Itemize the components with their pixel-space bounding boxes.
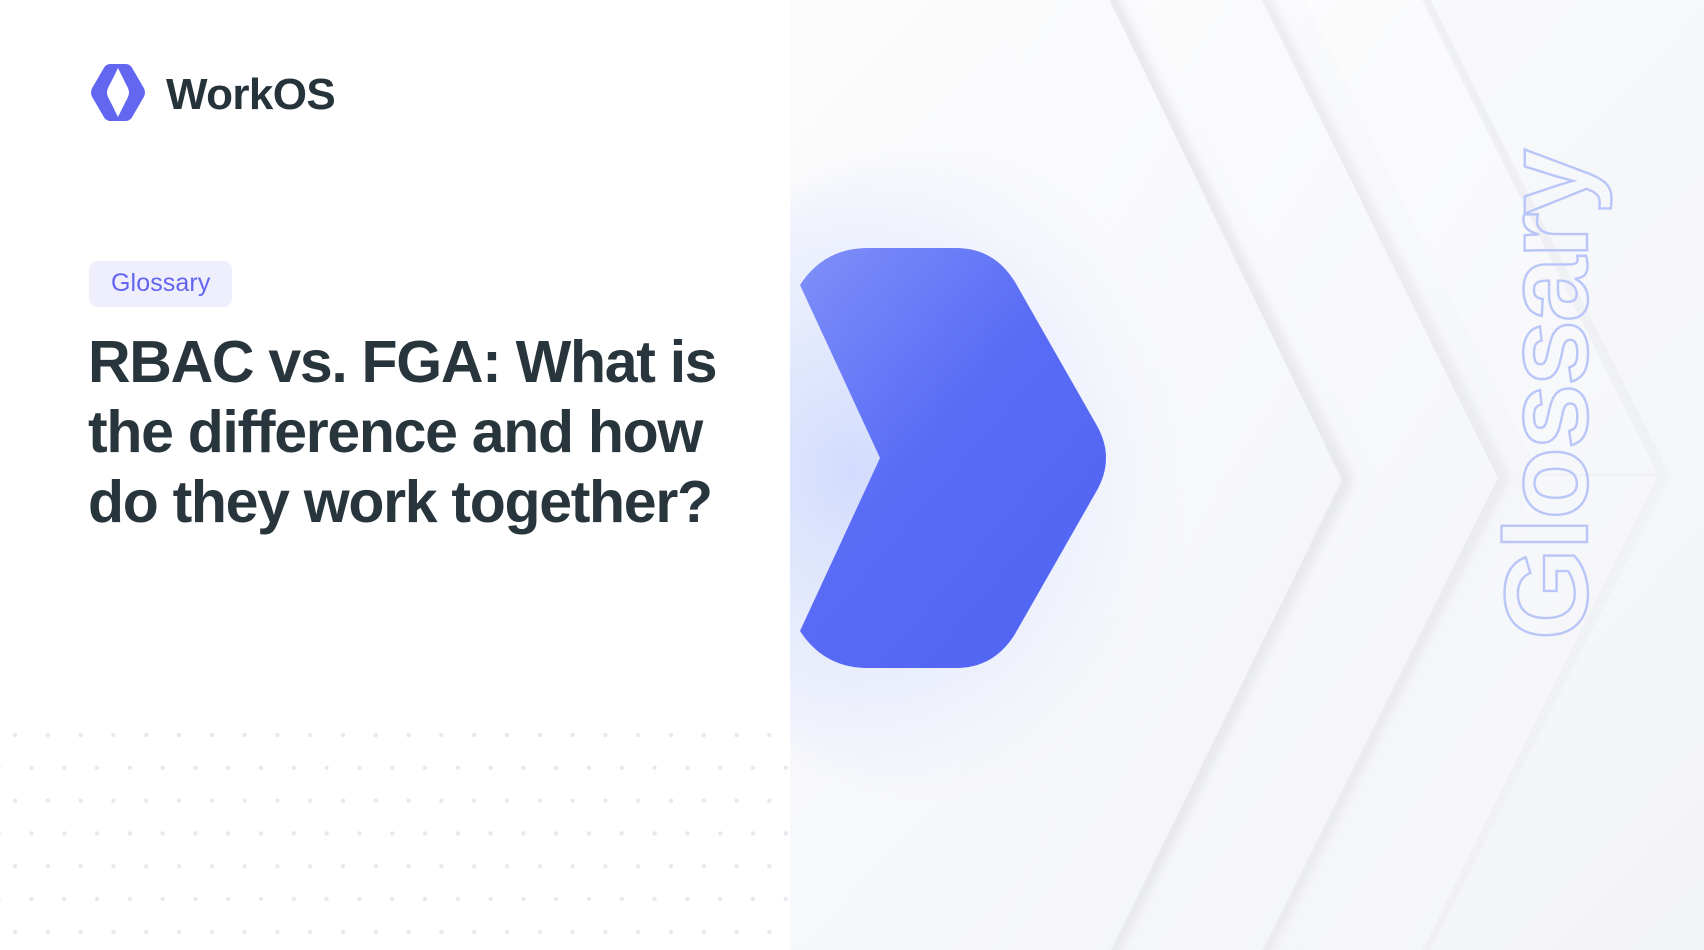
left-content-panel: WorkOS Glossary RBAC vs. FGA: What is th… [0, 0, 790, 950]
brand-wordmark: WorkOS [166, 73, 335, 117]
dot-grid-decoration [0, 722, 790, 950]
workos-hexagon-logo-icon [90, 64, 146, 126]
status-badge[interactable]: Glossary [89, 261, 232, 307]
brand-logo[interactable]: WorkOS [90, 64, 335, 126]
layered-chevron-artwork [790, 0, 1704, 950]
right-artwork-panel: Glossary [790, 0, 1704, 950]
glossary-hero-card: WorkOS Glossary RBAC vs. FGA: What is th… [0, 0, 1704, 950]
page-title: RBAC vs. FGA: What is the difference and… [88, 327, 728, 537]
